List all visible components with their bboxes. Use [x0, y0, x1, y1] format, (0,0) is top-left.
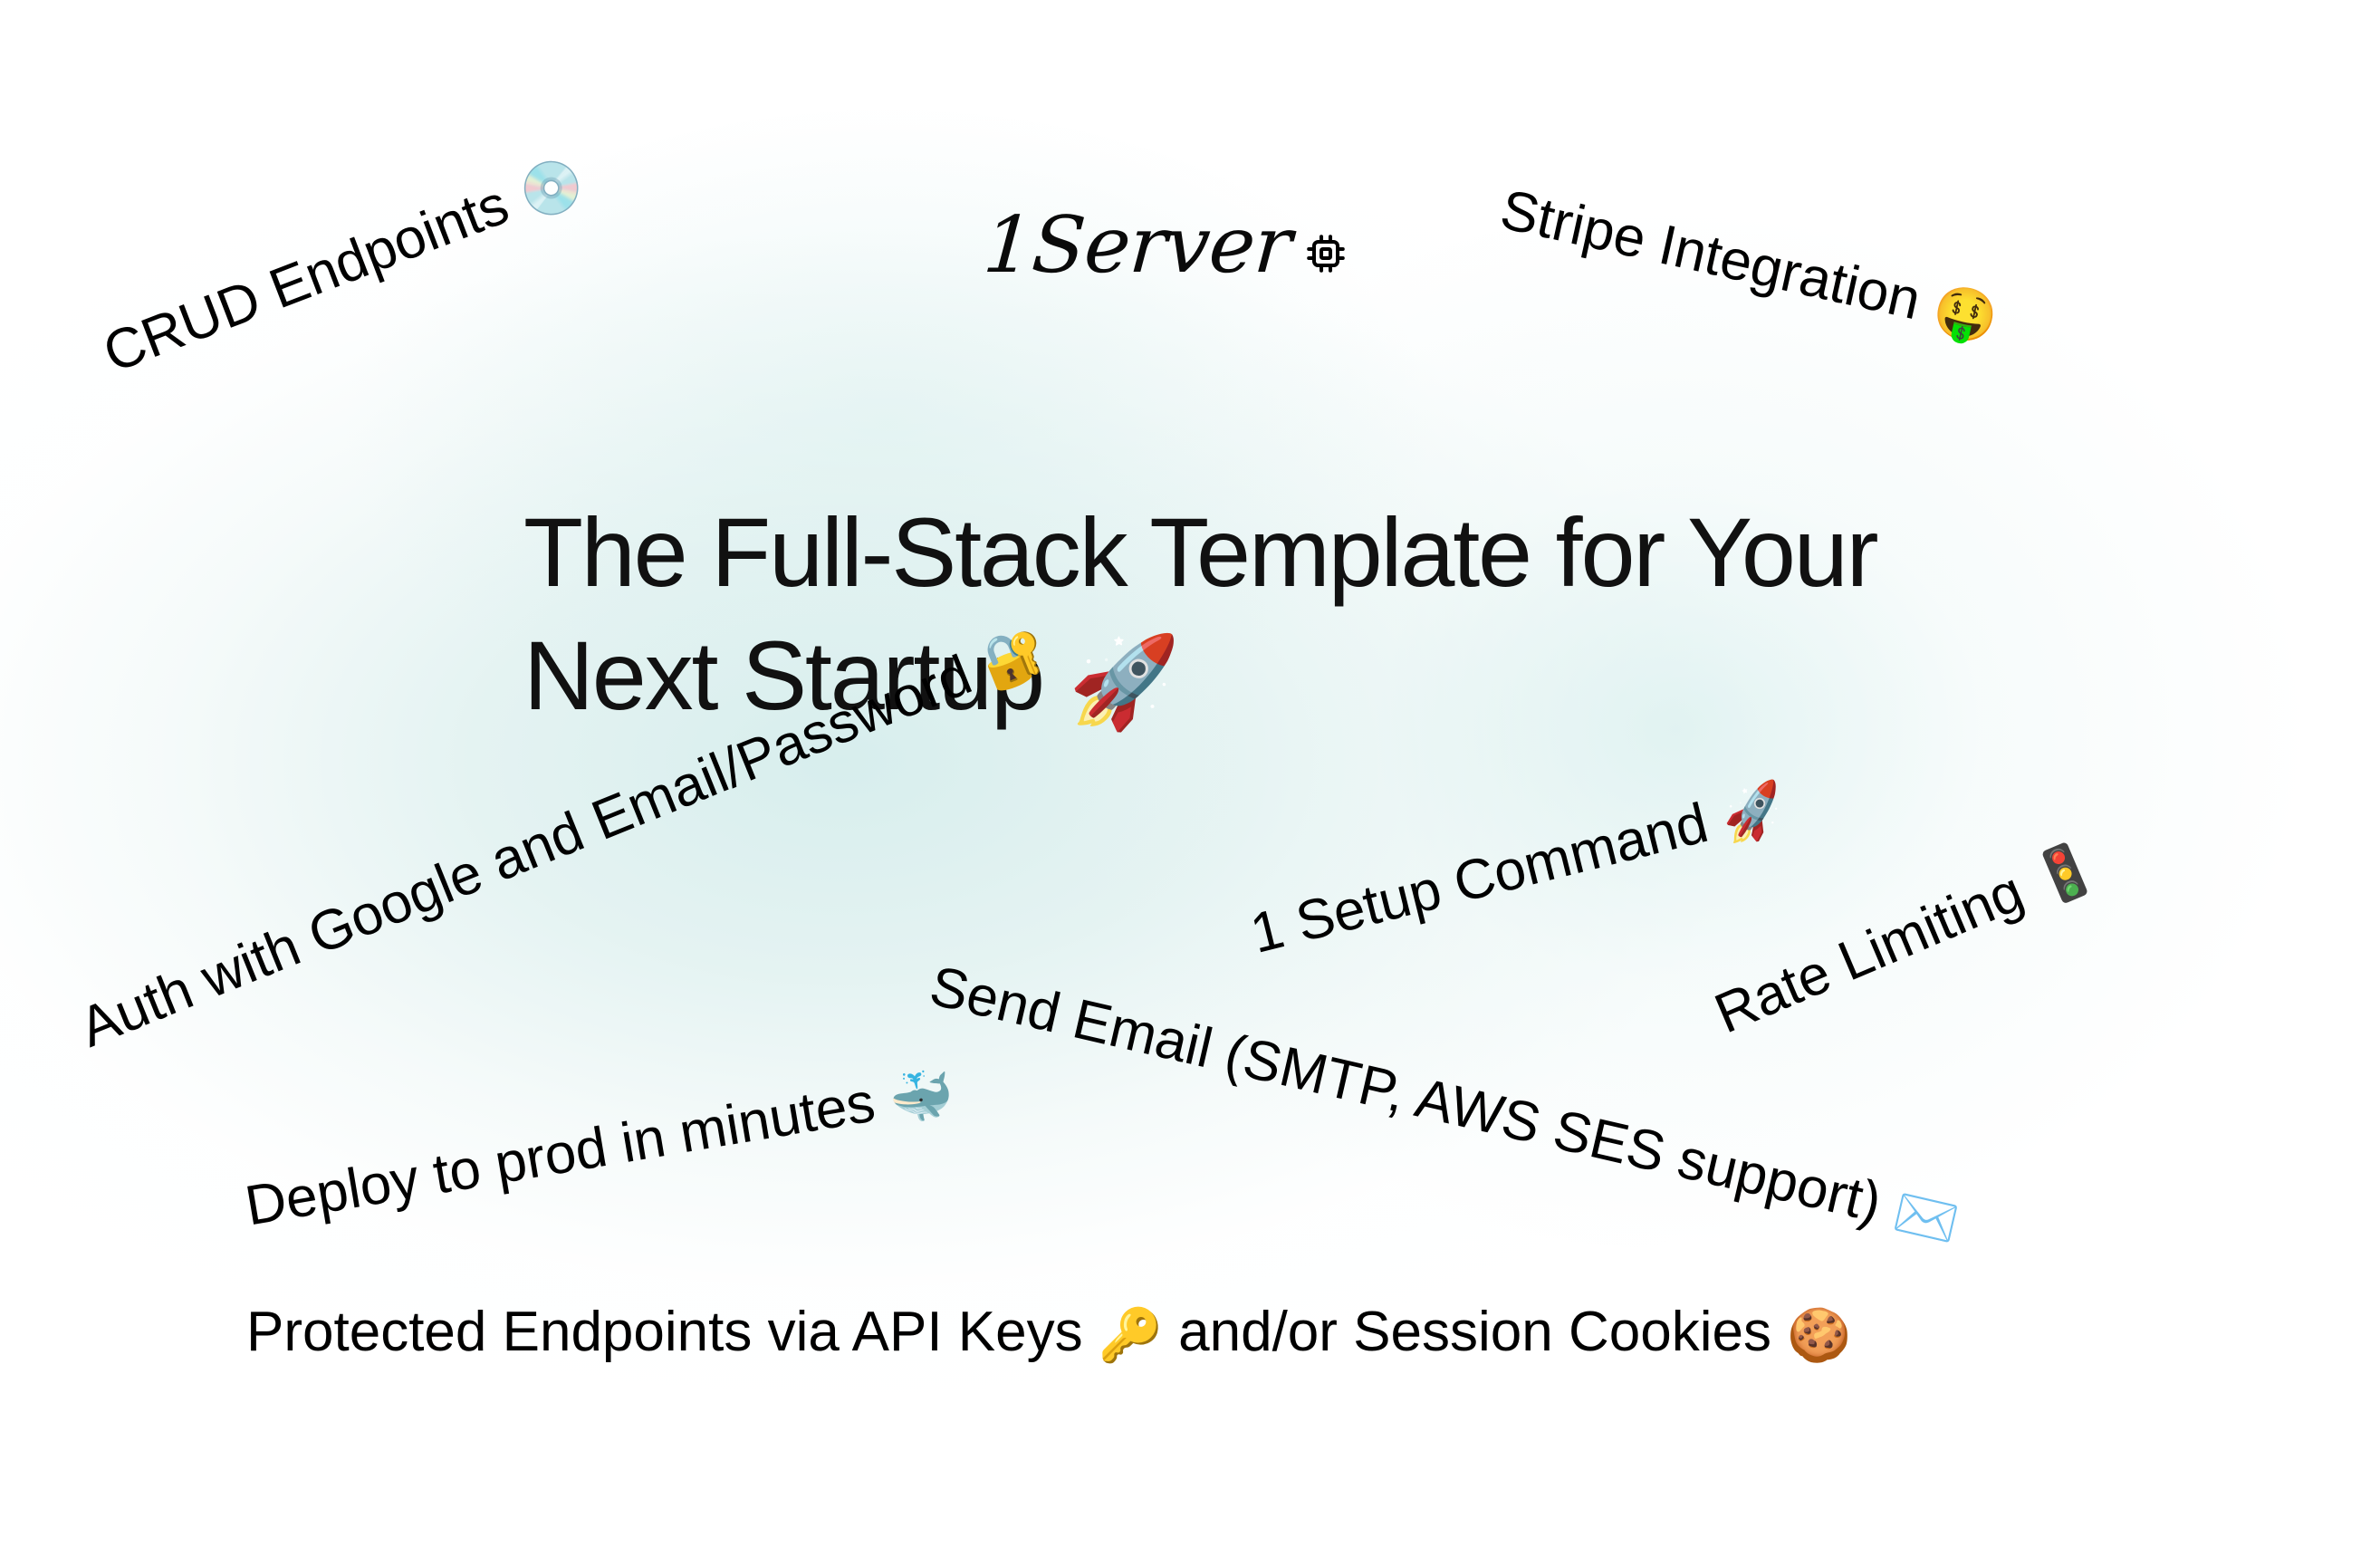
headline-line-1: The Full-Stack Template for Your: [523, 497, 1876, 607]
page-title: The Full-Stack Template for Your Next St…: [523, 491, 1972, 739]
feature-label-part-1: Protected Endpoints via API Keys: [246, 1301, 1083, 1363]
feature-setup-command: 1 Setup Command 🚀: [1245, 774, 1792, 966]
feature-label: CRUD Endpoints: [95, 173, 516, 385]
envelope-icon: ✉️: [1887, 1182, 1963, 1254]
feature-label: Deploy to prod in minutes: [241, 1071, 879, 1237]
brand-logo[interactable]: 1Server: [984, 207, 1347, 284]
content-layer: 1Server The Full-Stack Template for Your…: [0, 0, 2380, 1547]
feature-label: Stripe Integration: [1495, 178, 1926, 332]
feature-label-part-2: and/or Session Cookies: [1178, 1301, 1771, 1363]
cookie-icon: 🍪: [1787, 1305, 1851, 1365]
money-mouth-face-icon: 🤑: [1927, 279, 2003, 351]
feature-crud-endpoints: CRUD Endpoints 💿: [96, 146, 591, 385]
feature-stripe-integration: Stripe Integration 🤑: [1495, 180, 2004, 351]
rocket-icon: 🚀: [1069, 630, 1179, 735]
spouting-whale-icon: 🐳: [885, 1062, 958, 1132]
feature-rate-limiting: Rate Limiting 🚦: [1707, 831, 2106, 1046]
feature-deploy: Deploy to prod in minutes 🐳: [241, 1060, 958, 1239]
feature-label: 1 Setup Command: [1244, 792, 1713, 966]
key-icon: 🔑: [1099, 1305, 1163, 1365]
brand-wordmark: 1Server: [981, 207, 1293, 284]
cpu-chip-icon: [1305, 233, 1347, 274]
vertical-traffic-light-icon: 🚦: [2024, 833, 2106, 914]
feature-protected-endpoints: Protected Endpoints via API Keys 🔑 and/o…: [246, 1302, 1851, 1364]
feature-label: Rate Limiting: [1706, 860, 2032, 1045]
rocket-icon: 🚀: [1715, 777, 1792, 850]
optical-disk-icon: 💿: [511, 149, 592, 228]
hero-canvas: 1Server The Full-Stack Template for Your…: [0, 0, 2380, 1547]
